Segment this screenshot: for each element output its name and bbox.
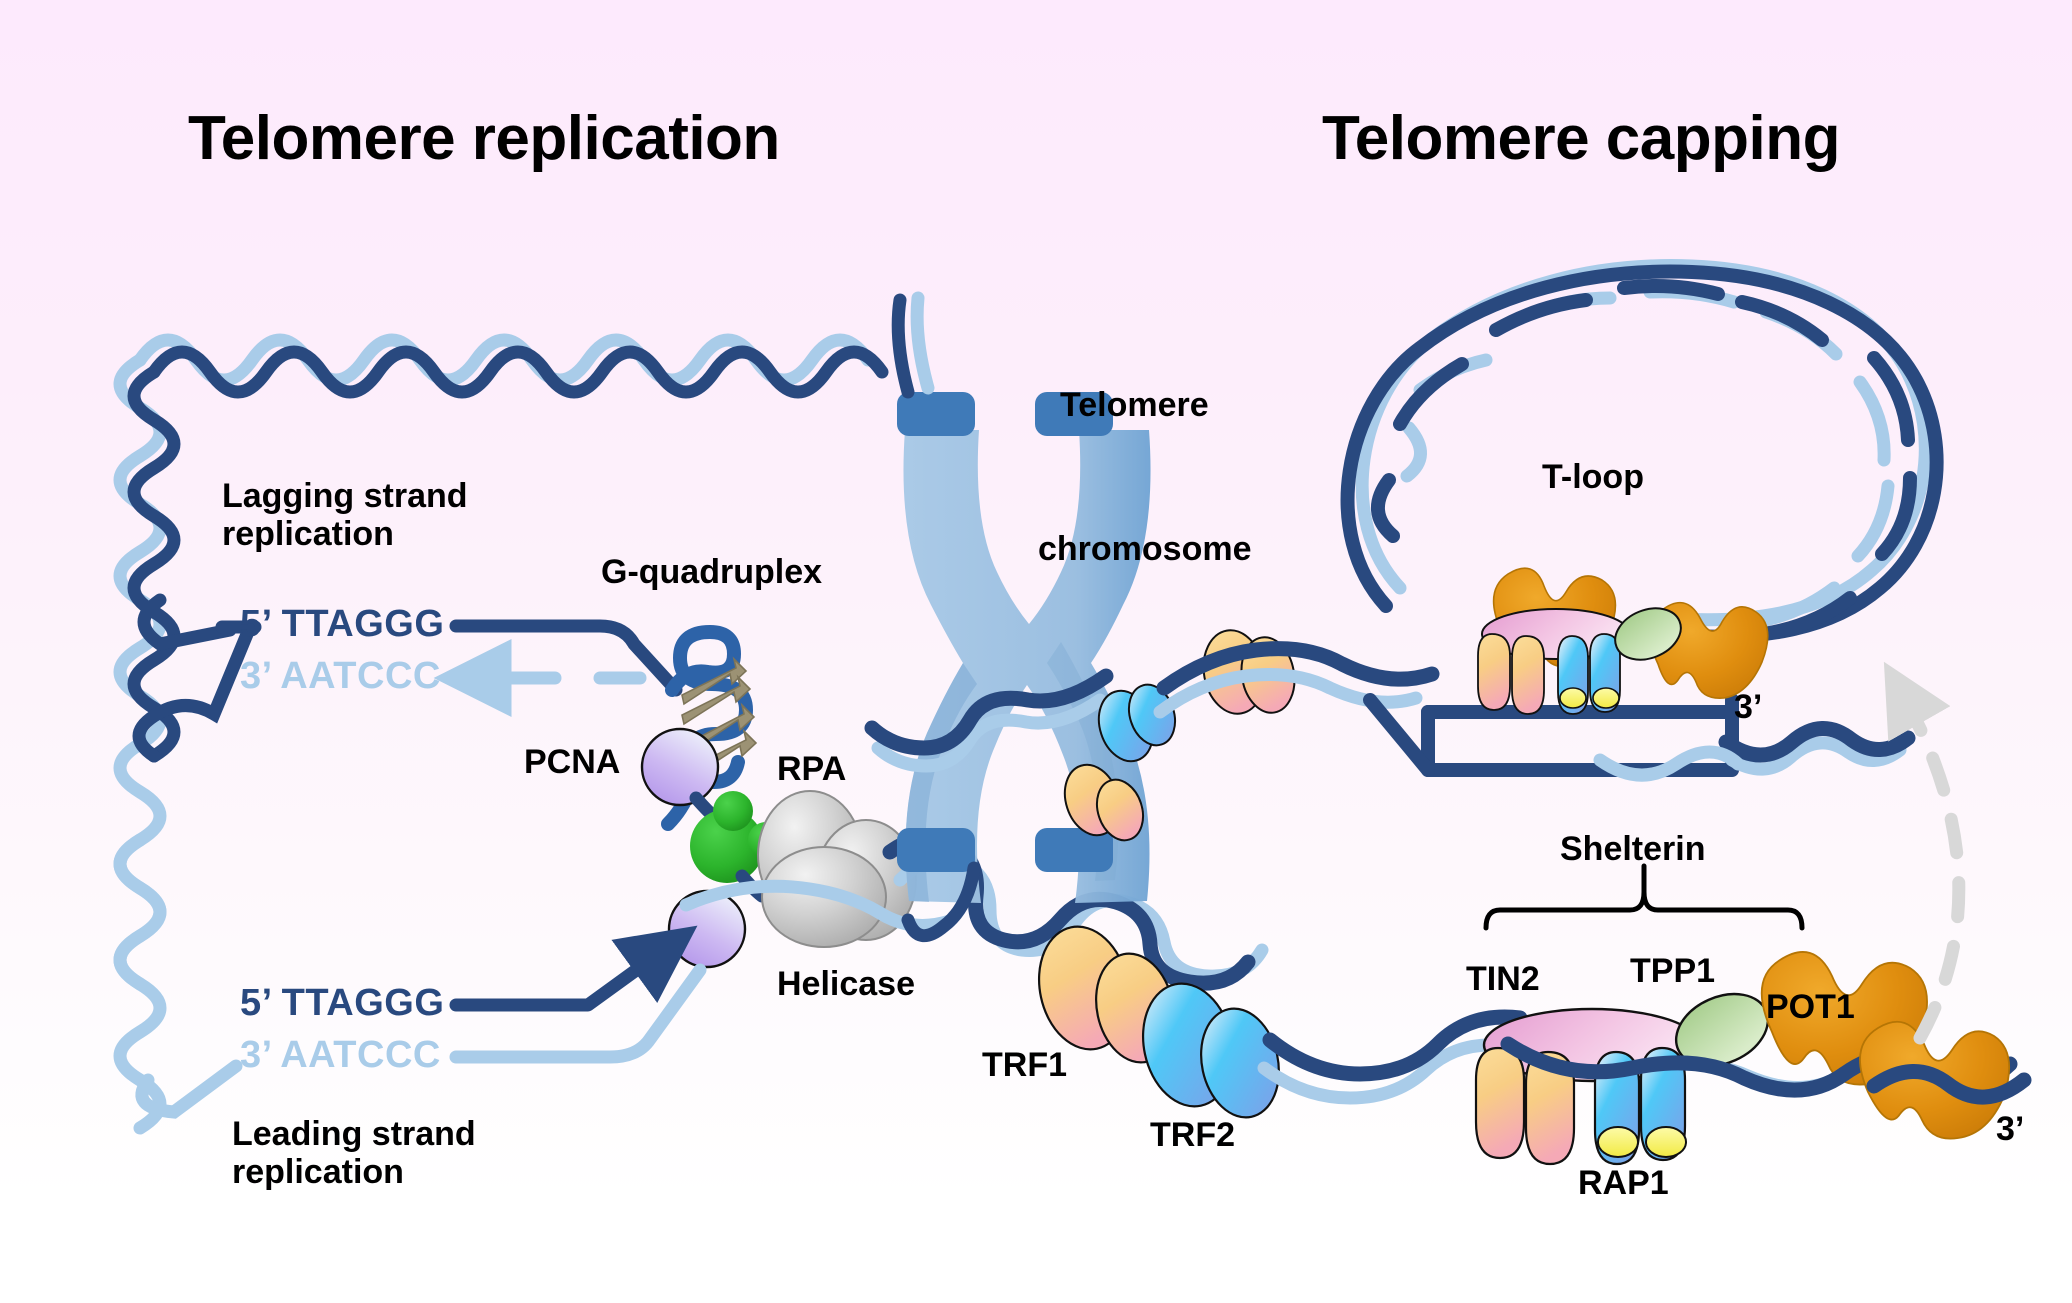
label-3prime-tloop: 3’ xyxy=(1734,688,1762,727)
label-helicase: Helicase xyxy=(777,965,915,1003)
pcna-circle-top xyxy=(642,729,718,805)
trf2-protein xyxy=(1132,975,1289,1124)
label-lagging-strand-replication: Lagging strand replication xyxy=(222,477,468,553)
label-trf1: TRF1 xyxy=(982,1046,1067,1084)
title-telomere-capping: Telomere capping xyxy=(1322,104,1840,173)
diagram-artwork xyxy=(0,0,2072,1303)
sequence-lagging-3prime: 3’ AATCCC xyxy=(240,655,441,698)
label-chromosome: chromosome xyxy=(1038,530,1252,568)
label-telomere: Telomere xyxy=(1060,386,1209,424)
sequence-leading-3prime: 3’ AATCCC xyxy=(240,1034,441,1077)
label-leading-strand-replication: Leading strand replication xyxy=(232,1115,476,1191)
label-rap1: RAP1 xyxy=(1578,1164,1669,1202)
label-tpp1: TPP1 xyxy=(1630,952,1715,990)
label-pot1: POT1 xyxy=(1766,988,1855,1026)
label-t-loop: T-loop xyxy=(1542,458,1644,496)
diagram-canvas: Telomere replication Telomere capping La… xyxy=(0,0,2072,1303)
label-rpa: RPA xyxy=(777,750,846,788)
label-tin2: TIN2 xyxy=(1466,960,1540,998)
sequence-leading-5prime: 5’ TTAGGG xyxy=(240,982,444,1025)
t-loop-base-strands xyxy=(1370,700,1908,775)
label-trf2: TRF2 xyxy=(1150,1116,1235,1154)
label-shelterin: Shelterin xyxy=(1560,830,1705,868)
title-telomere-replication: Telomere replication xyxy=(188,104,780,173)
sequence-lagging-5prime: 5’ TTAGGG xyxy=(240,603,444,646)
label-3prime-bottom: 3’ xyxy=(1996,1110,2024,1149)
label-g-quadruplex: G-quadruplex xyxy=(601,553,822,591)
lagging-strand-leading-lines xyxy=(456,626,676,690)
label-pcna: PCNA xyxy=(524,743,620,781)
t-loop-ring xyxy=(1348,266,1937,637)
shelterin-complex-tloop xyxy=(1478,568,1768,714)
